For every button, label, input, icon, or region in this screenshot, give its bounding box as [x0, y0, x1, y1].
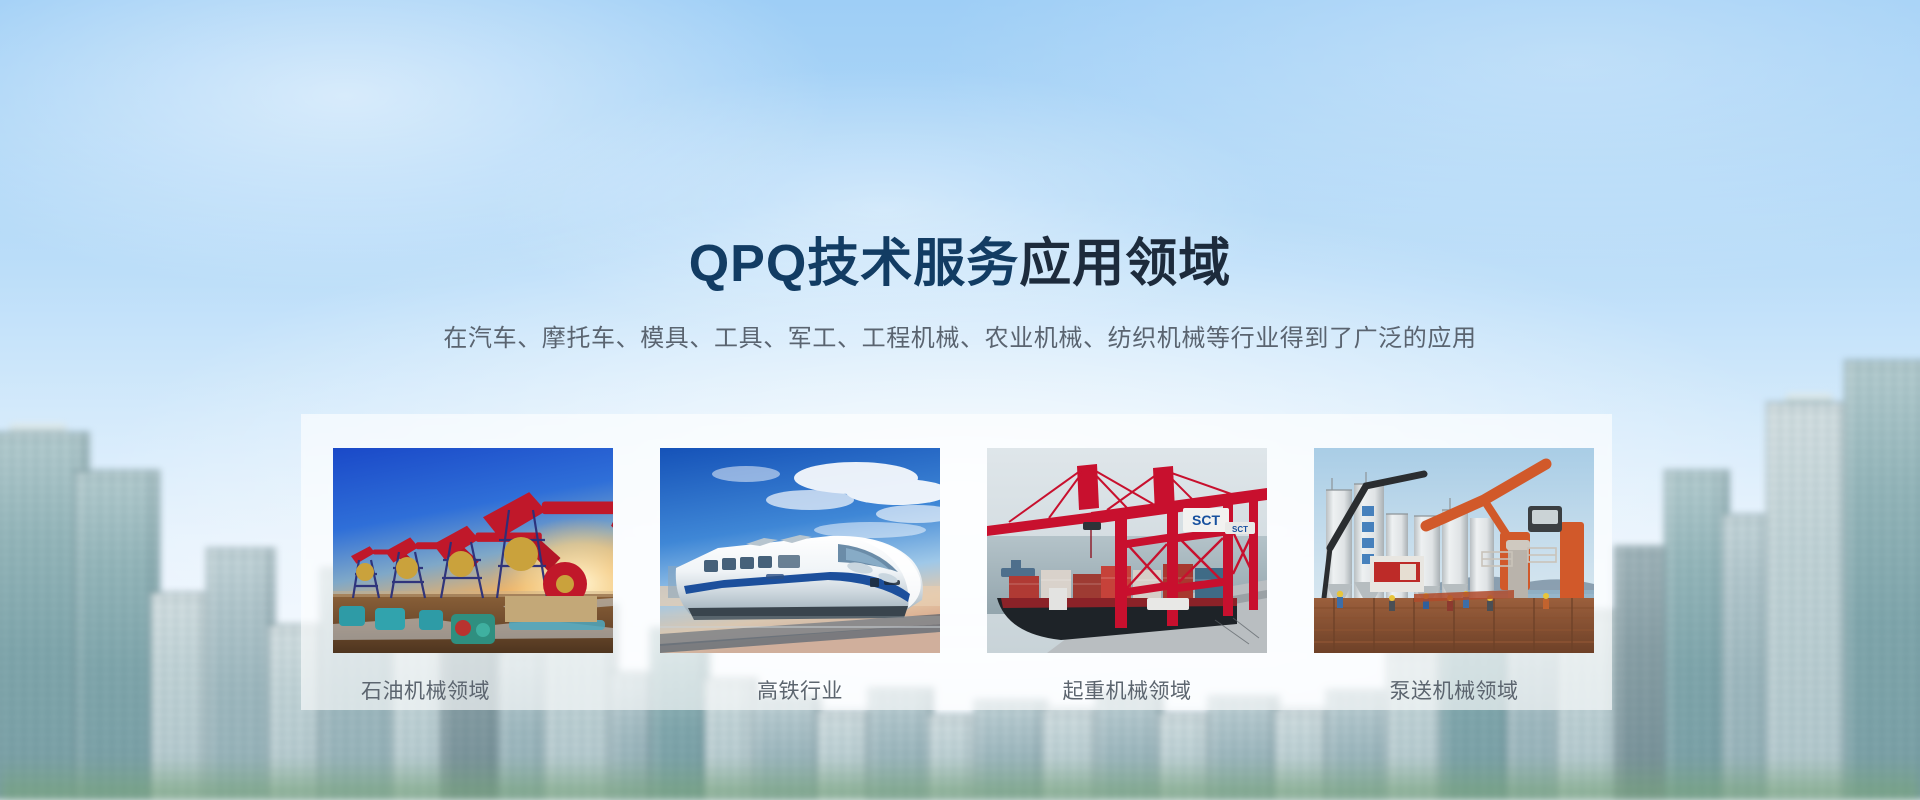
application-card-oil[interactable]: 石油机械领域: [333, 448, 613, 705]
application-card-crane[interactable]: SCT SCT 起重机械领域: [987, 448, 1267, 705]
application-card-label: 泵送机械领域: [1314, 675, 1594, 705]
oil-pumpjacks-sunset-photo[interactable]: [333, 448, 613, 653]
application-card-list: 石油机械领域: [333, 448, 1594, 705]
page-title-dark-part: 应用领域: [1019, 235, 1231, 293]
page-title-blue-part: QPQ技术服务: [689, 235, 1020, 293]
page-title: QPQ技术服务应用领域: [0, 238, 1920, 290]
application-card-pump[interactable]: 泵送机械领域: [1314, 448, 1594, 705]
high-speed-train-crh-photo[interactable]: [660, 448, 940, 653]
applications-panel: 石油机械领域: [301, 414, 1612, 710]
hero-headings: QPQ技术服务应用领域 在汽车、摩托车、模具、工具、军工、工程机械、农业机械、纺…: [0, 0, 1920, 353]
port-gantry-cranes-containers-photo[interactable]: SCT SCT: [987, 448, 1267, 653]
page-subtitle: 在汽车、摩托车、模具、工具、军工、工程机械、农业机械、纺织机械等行业得到了广泛的…: [0, 318, 1920, 353]
svg-text:SCT: SCT: [1192, 512, 1220, 528]
application-card-label: 高铁行业: [660, 675, 940, 705]
application-card-label: 石油机械领域: [333, 675, 613, 705]
svg-text:SCT: SCT: [1232, 525, 1248, 534]
application-card-label: 起重机械领域: [987, 675, 1267, 705]
application-card-rail[interactable]: 高铁行业: [660, 448, 940, 705]
concrete-pump-silos-construction-photo[interactable]: [1314, 448, 1594, 653]
